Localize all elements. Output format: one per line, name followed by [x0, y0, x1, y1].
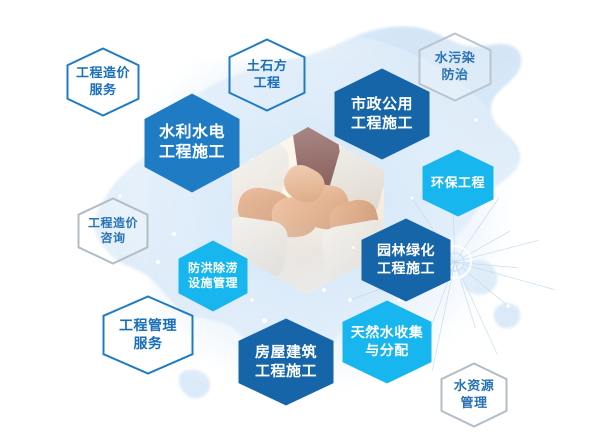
hexagon-environmental-protection-engineering[interactable]: 环保工程 — [422, 149, 494, 217]
hexagon-label: 工程管理 服务 — [119, 317, 177, 353]
infographic-canvas: 工程造价 服务土石方 工程水污染 防治水利水电 工程施工市政公用 工程施工环保工… — [0, 0, 600, 439]
hexagon-municipal-public-works-construction[interactable]: 市政公用 工程施工 — [334, 68, 430, 160]
hexagon-landscaping-engineering-construction[interactable]: 园林绿化 工程施工 — [361, 218, 451, 302]
hexagon-label: 土石方 工程 — [247, 58, 288, 91]
hexagon-label: 天然水收集 与分配 — [351, 324, 424, 360]
sparkle-dot — [172, 232, 176, 236]
hexagon-label: 市政公用 工程施工 — [351, 95, 413, 133]
hexagon-engineering-management-service[interactable]: 工程管理 服务 — [102, 295, 194, 375]
hexagon-engineering-cost-consulting[interactable]: 工程造价 咨询 — [77, 197, 149, 265]
hexagon-label: 园林绿化 工程施工 — [377, 242, 435, 278]
hexagon-label: 环保工程 — [431, 175, 485, 192]
hexagon-water-conservancy-hydropower-construction[interactable]: 水利水电 工程施工 — [144, 93, 240, 193]
hexagon-label: 水资源 管理 — [454, 378, 495, 411]
hexagon-label: 工程造价 咨询 — [88, 216, 138, 247]
sparkle-dot — [322, 288, 326, 292]
hexagon-water-resource-management[interactable]: 水资源 管理 — [440, 362, 508, 428]
sparkle-dot — [352, 246, 355, 249]
hexagon-engineering-cost-service[interactable]: 工程造价 服务 — [66, 47, 140, 117]
hexagon-label: 水利水电 工程施工 — [159, 123, 225, 164]
hexagon-label: 房屋建筑 工程施工 — [255, 343, 317, 381]
hexagon-label: 防洪除涝 设施管理 — [188, 261, 238, 292]
hexagon-housing-construction-engineering[interactable]: 房屋建筑 工程施工 — [238, 318, 334, 406]
hexagon-natural-water-collection-distribution[interactable]: 天然水收集 与分配 — [342, 300, 432, 384]
hexagon-label: 水污染 防治 — [435, 50, 476, 83]
hexagon-label: 工程造价 服务 — [76, 65, 130, 98]
sparkle-dot — [232, 392, 236, 396]
